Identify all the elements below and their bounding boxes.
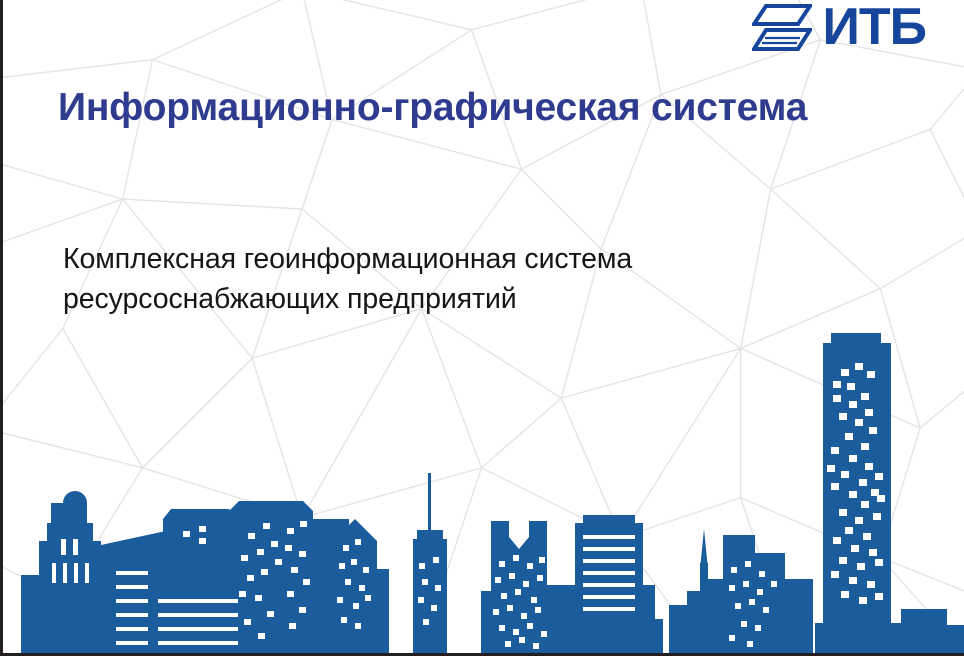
page-subtitle: Комплексная геоинформационная система ре… — [63, 239, 863, 320]
city-skyline-illustration — [3, 323, 964, 653]
company-logo: ИТБ — [752, 2, 926, 54]
page-title: Информационно-графическая система — [58, 76, 818, 139]
stacked-parallelograms-logo-mark — [752, 2, 812, 54]
title-slide: ИТБ Информационно-графическая система Ко… — [0, 0, 964, 656]
logo-text: ИТБ — [822, 1, 926, 53]
